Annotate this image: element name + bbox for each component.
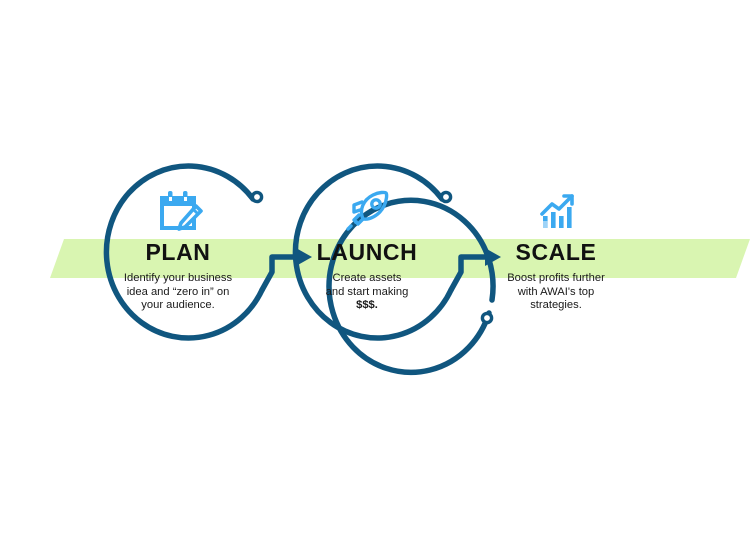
desc-line: and start making [277,286,457,300]
stage-description-scale: Boost profits further with AWAI's top st… [466,272,646,313]
desc-line: Identify your business [88,272,268,286]
stage-description-launch: Create assets and start making $$$. [277,272,457,313]
desc-line: Create assets [277,272,457,286]
stage-description-plan: Identify your business idea and “zero in… [88,272,268,313]
infographic-canvas: PLAN Identify your business idea and “ze… [0,0,750,544]
desc-line: Boost profits further [466,272,646,286]
desc-line: your audience. [88,299,268,313]
desc-line: with AWAI's top [466,286,646,300]
desc-line: strategies. [466,299,646,313]
desc-line: idea and “zero in” on [88,286,268,300]
stage-title-scale: SCALE [462,238,650,266]
stage-title-plan: PLAN [84,238,272,266]
calendar-edit-icon [152,188,204,234]
growth-chart-icon [530,188,582,234]
desc-line-money: $$$. [277,299,457,313]
rocket-icon [341,188,393,234]
stage-title-launch: LAUNCH [273,238,461,266]
